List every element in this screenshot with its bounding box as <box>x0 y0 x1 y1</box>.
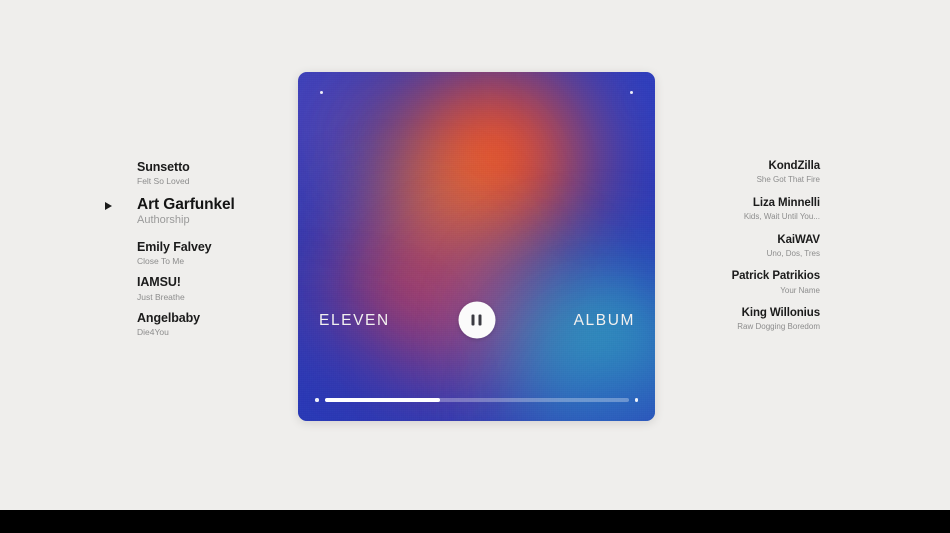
track-title: Art Garfunkel <box>137 196 297 214</box>
track-subtitle: She Got That Fire <box>660 175 820 185</box>
corner-dot-icon-top-left <box>320 91 323 94</box>
track-subtitle: Close To Me <box>137 256 297 266</box>
corner-dot-icon-bottom-right <box>635 398 639 402</box>
track-subtitle: Raw Dogging Boredom <box>660 322 820 332</box>
pause-icon-bar-right <box>478 315 482 326</box>
track-subtitle: Uno, Dos, Tres <box>660 249 820 259</box>
track-title: Liza Minnelli <box>660 197 820 210</box>
letterbox-bar <box>0 510 950 533</box>
list-item[interactable]: Emily Falvey Close To Me <box>137 240 297 267</box>
progress-fill <box>325 398 441 402</box>
track-title: Sunsetto <box>137 160 297 174</box>
list-item-active[interactable]: Art Garfunkel Authorship <box>137 196 297 228</box>
track-subtitle: Authorship <box>137 214 297 227</box>
screen: Sunsetto Felt So Loved Art Garfunkel Aut… <box>0 0 950 533</box>
track-title: Patrick Patrikios <box>660 270 820 283</box>
corner-dot-icon-top-right <box>630 91 633 94</box>
pause-button[interactable] <box>458 302 495 339</box>
progress-slider[interactable] <box>325 398 629 402</box>
track-title: King Willonius <box>660 307 820 320</box>
list-item[interactable]: IAMSU! Just Breathe <box>137 275 297 302</box>
playlist-right: KondZilla She Got That Fire Liza Minnell… <box>660 160 820 344</box>
album-label-right: ALBUM <box>574 312 635 330</box>
playback-progress <box>315 396 638 404</box>
album-artwork[interactable]: ELEVEN ALBUM <box>298 72 655 421</box>
list-item[interactable]: Sunsetto Felt So Loved <box>137 160 297 187</box>
list-item[interactable]: Angelbaby Die4You <box>137 311 297 338</box>
list-item[interactable]: Liza Minnelli Kids, Wait Until You... <box>660 197 820 222</box>
track-title: Angelbaby <box>137 311 297 325</box>
pause-icon-bar-left <box>471 315 475 326</box>
list-item[interactable]: KondZilla She Got That Fire <box>660 160 820 185</box>
player-canvas: Sunsetto Felt So Loved Art Garfunkel Aut… <box>0 0 950 510</box>
track-subtitle: Felt So Loved <box>137 176 297 186</box>
track-title: KondZilla <box>660 160 820 173</box>
track-subtitle: Kids, Wait Until You... <box>660 212 820 222</box>
playlist-left: Sunsetto Felt So Loved Art Garfunkel Aut… <box>137 160 297 346</box>
album-label-left: ELEVEN <box>319 312 390 330</box>
list-item[interactable]: King Willonius Raw Dogging Boredom <box>660 307 820 332</box>
track-subtitle: Die4You <box>137 327 297 337</box>
list-item[interactable]: KaiWAV Uno, Dos, Tres <box>660 234 820 259</box>
track-title: IAMSU! <box>137 275 297 289</box>
track-title: KaiWAV <box>660 234 820 247</box>
grain-overlay <box>298 72 655 421</box>
track-subtitle: Your Name <box>660 286 820 296</box>
track-subtitle: Just Breathe <box>137 292 297 302</box>
list-item[interactable]: Patrick Patrikios Your Name <box>660 270 820 295</box>
track-title: Emily Falvey <box>137 240 297 254</box>
play-triangle-icon <box>105 202 112 210</box>
corner-dot-icon-bottom-left <box>315 398 319 402</box>
